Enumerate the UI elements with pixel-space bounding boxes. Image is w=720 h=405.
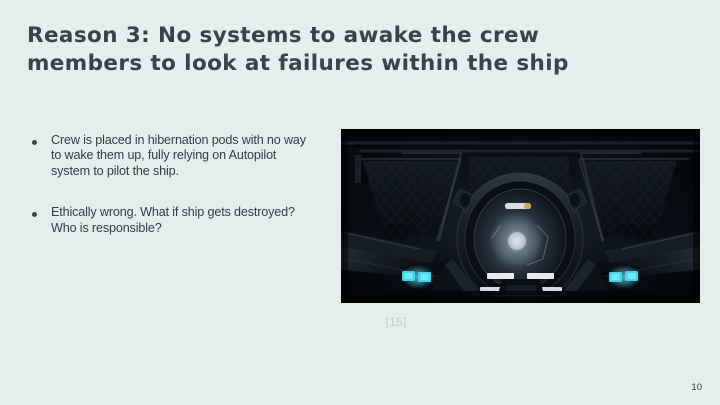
bullet-text: Crew is placed in hibernation pods with … [51, 133, 312, 179]
figure-caption: [15] [341, 315, 451, 329]
list-item: Crew is placed in hibernation pods with … [32, 133, 312, 179]
bullet-list: Crew is placed in hibernation pods with … [32, 133, 312, 262]
cyan-indicator-right [607, 265, 641, 289]
page-title: Reason 3: No systems to awake the crew m… [27, 22, 667, 78]
bullet-dot-icon [32, 212, 37, 217]
cyan-indicator-left [401, 265, 435, 289]
bullet-dot-icon [32, 140, 37, 145]
spaceship-interior-illustration [341, 129, 700, 303]
slide: Reason 3: No systems to awake the crew m… [0, 0, 720, 405]
page-number: 10 [691, 382, 702, 393]
bullet-text: Ethically wrong. What if ship gets destr… [51, 205, 312, 236]
hibernation-pod-image [341, 129, 700, 303]
figure: [15] [341, 129, 700, 303]
list-item: Ethically wrong. What if ship gets destr… [32, 205, 312, 236]
